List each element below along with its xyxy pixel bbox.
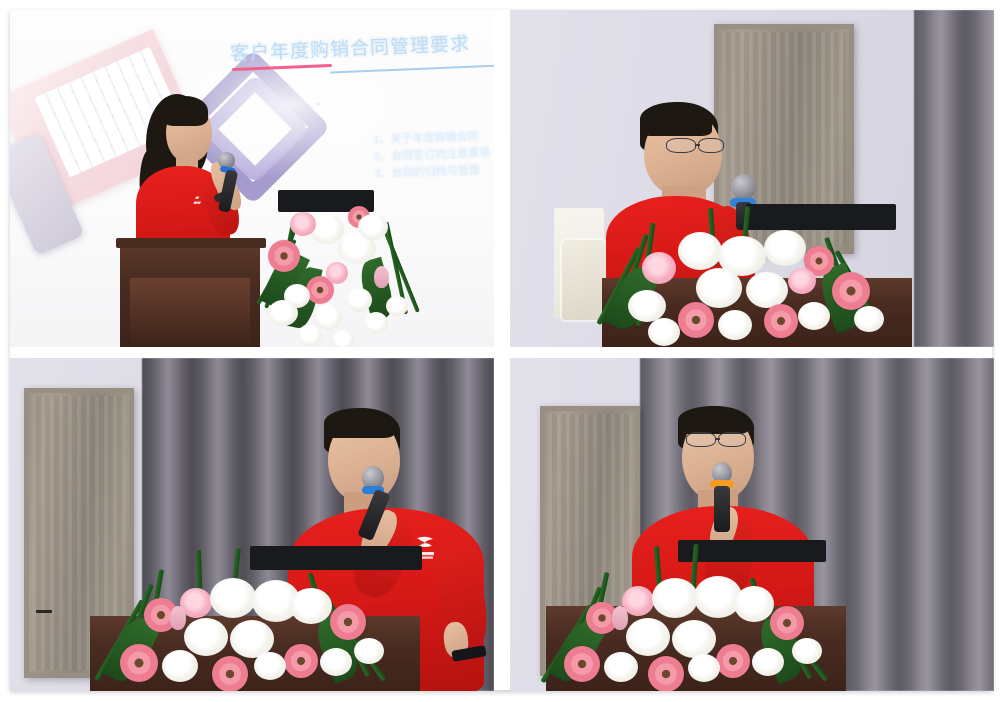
shirt-logo: ▰▰▰ [186,196,208,206]
door-handle [36,610,52,613]
slide-body-text: 1、关于年度购销合同 2、合同签订的注意事项 3、合同的归档与管理 [373,128,491,183]
collage-grid: 客户年度购销合同管理要求 1、关于年度购销合同 2、合同签订的注意事项 3、合同… [10,10,992,690]
photo-panel-top-left[interactable]: 客户年度购销合同管理要求 1、关于年度购销合同 2、合同签订的注意事项 3、合同… [10,10,494,347]
glasses [686,432,716,447]
flower-arrangement [82,548,422,691]
photo-panel-top-right[interactable] [510,10,994,347]
flower-arrangement [254,196,464,347]
curtain [914,10,994,347]
photo-panel-bottom-left[interactable] [10,358,494,691]
flower-arrangement [588,206,918,347]
podium-base [130,278,250,347]
photo-panel-bottom-right[interactable] [510,358,994,691]
podium-desktop [116,238,266,248]
photo-collage: 客户年度购销合同管理要求 1、关于年度购销合同 2、合同签订的注意事项 3、合同… [0,0,1002,702]
glasses [666,138,696,153]
flower-arrangement [530,544,854,691]
